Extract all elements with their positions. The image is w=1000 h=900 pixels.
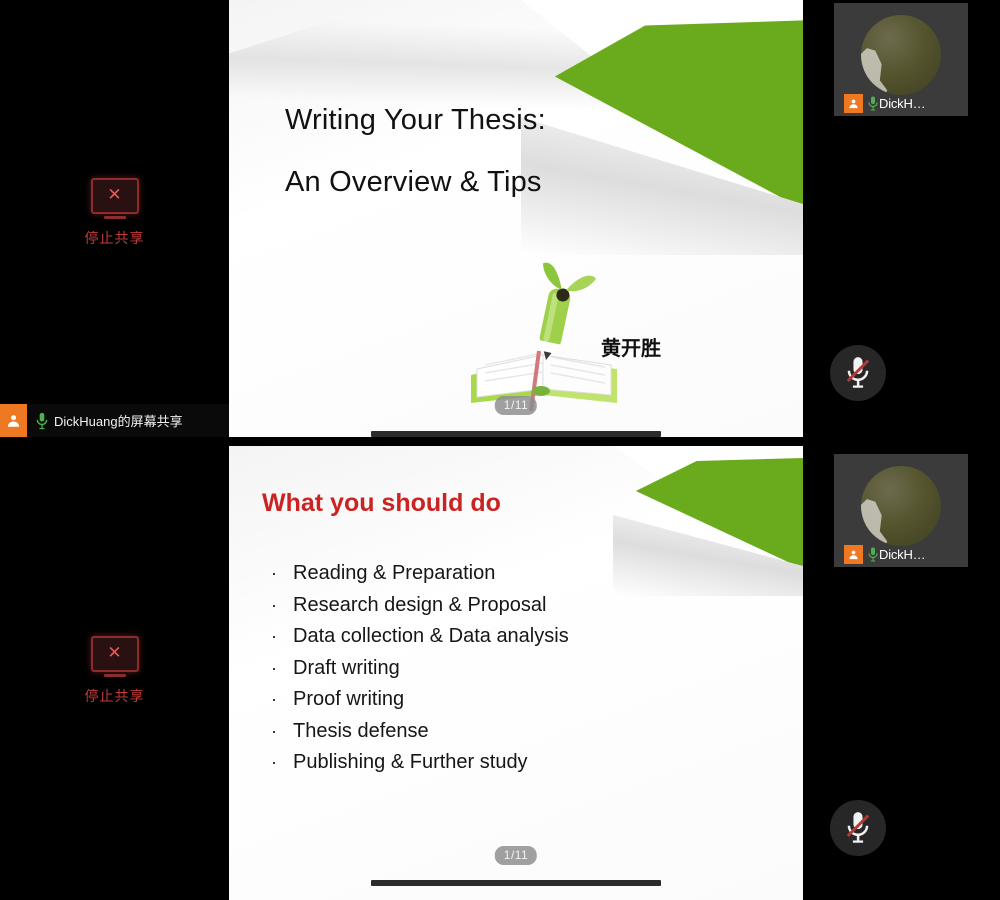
slide-title-line2: An Overview & Tips — [285, 166, 542, 199]
avatar — [861, 15, 941, 95]
share-control-column-top: ✕ 停止共享 DickHuang的屏幕共享 — [0, 0, 229, 437]
stop-share-button-top[interactable]: ✕ 停止共享 — [0, 178, 229, 248]
bullet-dot-icon: · — [271, 590, 293, 622]
list-item-label: Proof writing — [293, 688, 404, 710]
participant-video-tile-bottom[interactable]: DickH… — [834, 454, 968, 567]
participant-label-top: DickH… — [834, 94, 925, 113]
list-item-label: Data collection & Data analysis — [293, 625, 569, 647]
list-item: ·Draft writing — [271, 653, 569, 685]
top-screen-share-panel: ✕ 停止共享 DickHuang的屏幕共享 — [0, 0, 1000, 437]
bullet-dot-icon: · — [271, 684, 293, 716]
list-item: ·Proof writing — [271, 684, 569, 716]
list-item-label: Publishing & Further study — [293, 751, 528, 773]
page-indicator-badge-1: 1/11 — [495, 396, 537, 415]
stop-share-button-bottom[interactable]: ✕ 停止共享 — [0, 636, 229, 706]
stop-share-monitor-icon: ✕ — [91, 636, 139, 672]
bullet-dot-icon: · — [271, 621, 293, 653]
shared-screen-meeting-view: ✕ 停止共享 DickHuang的屏幕共享 — [0, 0, 1000, 900]
avatar — [861, 466, 941, 546]
slide-view-2[interactable]: What you should do ·Reading & Preparatio… — [229, 446, 803, 900]
slide-author-name: 黄开胜 — [601, 332, 661, 361]
list-item: ·Reading & Preparation — [271, 558, 569, 590]
stop-share-monitor-icon: ✕ — [91, 178, 139, 214]
participant-name-bottom: DickH… — [879, 547, 925, 562]
slide-scrollbar-top[interactable] — [371, 431, 661, 437]
mute-toggle-button-bottom[interactable] — [830, 800, 886, 856]
stop-share-label: 停止共享 — [0, 228, 229, 248]
microphone-icon — [867, 547, 879, 562]
share-status-text: DickHuang的屏幕共享 — [54, 411, 183, 430]
participant-video-tile-top[interactable]: DickH… — [834, 3, 968, 116]
bullet-list: ·Reading & Preparation ·Research design … — [271, 558, 569, 779]
share-status-bar-top: DickHuang的屏幕共享 — [0, 404, 229, 437]
list-item: ·Research design & Proposal — [271, 590, 569, 622]
close-x-icon: ✕ — [93, 638, 137, 670]
list-item-label: Draft writing — [293, 657, 400, 679]
list-item: ·Publishing & Further study — [271, 747, 569, 779]
slide-title-line1: Writing Your Thesis: — [285, 104, 546, 137]
person-avatar-icon — [844, 94, 863, 113]
microphone-muted-icon — [843, 356, 873, 390]
slide-scrollbar-bottom[interactable] — [371, 880, 661, 886]
list-item-label: Thesis defense — [293, 720, 429, 742]
participant-label-bottom: DickH… — [834, 545, 925, 564]
share-control-column-bottom: ✕ 停止共享 — [0, 446, 229, 900]
open-book-with-pen-icon — [461, 243, 636, 418]
bullet-dot-icon: · — [271, 558, 293, 590]
participant-name-top: DickH… — [879, 96, 925, 111]
microphone-icon — [35, 412, 49, 430]
bullet-dot-icon: · — [271, 716, 293, 748]
mute-toggle-button-top[interactable] — [830, 345, 886, 401]
slide-view-1[interactable]: Writing Your Thesis: An Overview & Tips — [229, 0, 803, 437]
list-item: ·Data collection & Data analysis — [271, 621, 569, 653]
person-avatar-icon — [0, 404, 27, 437]
person-avatar-icon — [844, 545, 863, 564]
close-x-icon: ✕ — [93, 180, 137, 212]
stop-share-label: 停止共享 — [0, 686, 229, 706]
page-indicator-badge-2: 1/11 — [495, 846, 537, 865]
list-item-label: Reading & Preparation — [293, 562, 495, 584]
slide-heading: What you should do — [262, 489, 501, 518]
microphone-icon — [867, 96, 879, 111]
list-item-label: Research design & Proposal — [293, 594, 546, 616]
participant-column-bottom: DickH… — [803, 446, 1000, 900]
bullet-dot-icon: · — [271, 747, 293, 779]
bullet-dot-icon: · — [271, 653, 293, 685]
bottom-screen-share-panel: ✕ 停止共享 What you should do ·Reading & Pre… — [0, 446, 1000, 900]
participant-column-top: DickH… — [803, 0, 1000, 437]
microphone-muted-icon — [843, 811, 873, 845]
list-item: ·Thesis defense — [271, 716, 569, 748]
